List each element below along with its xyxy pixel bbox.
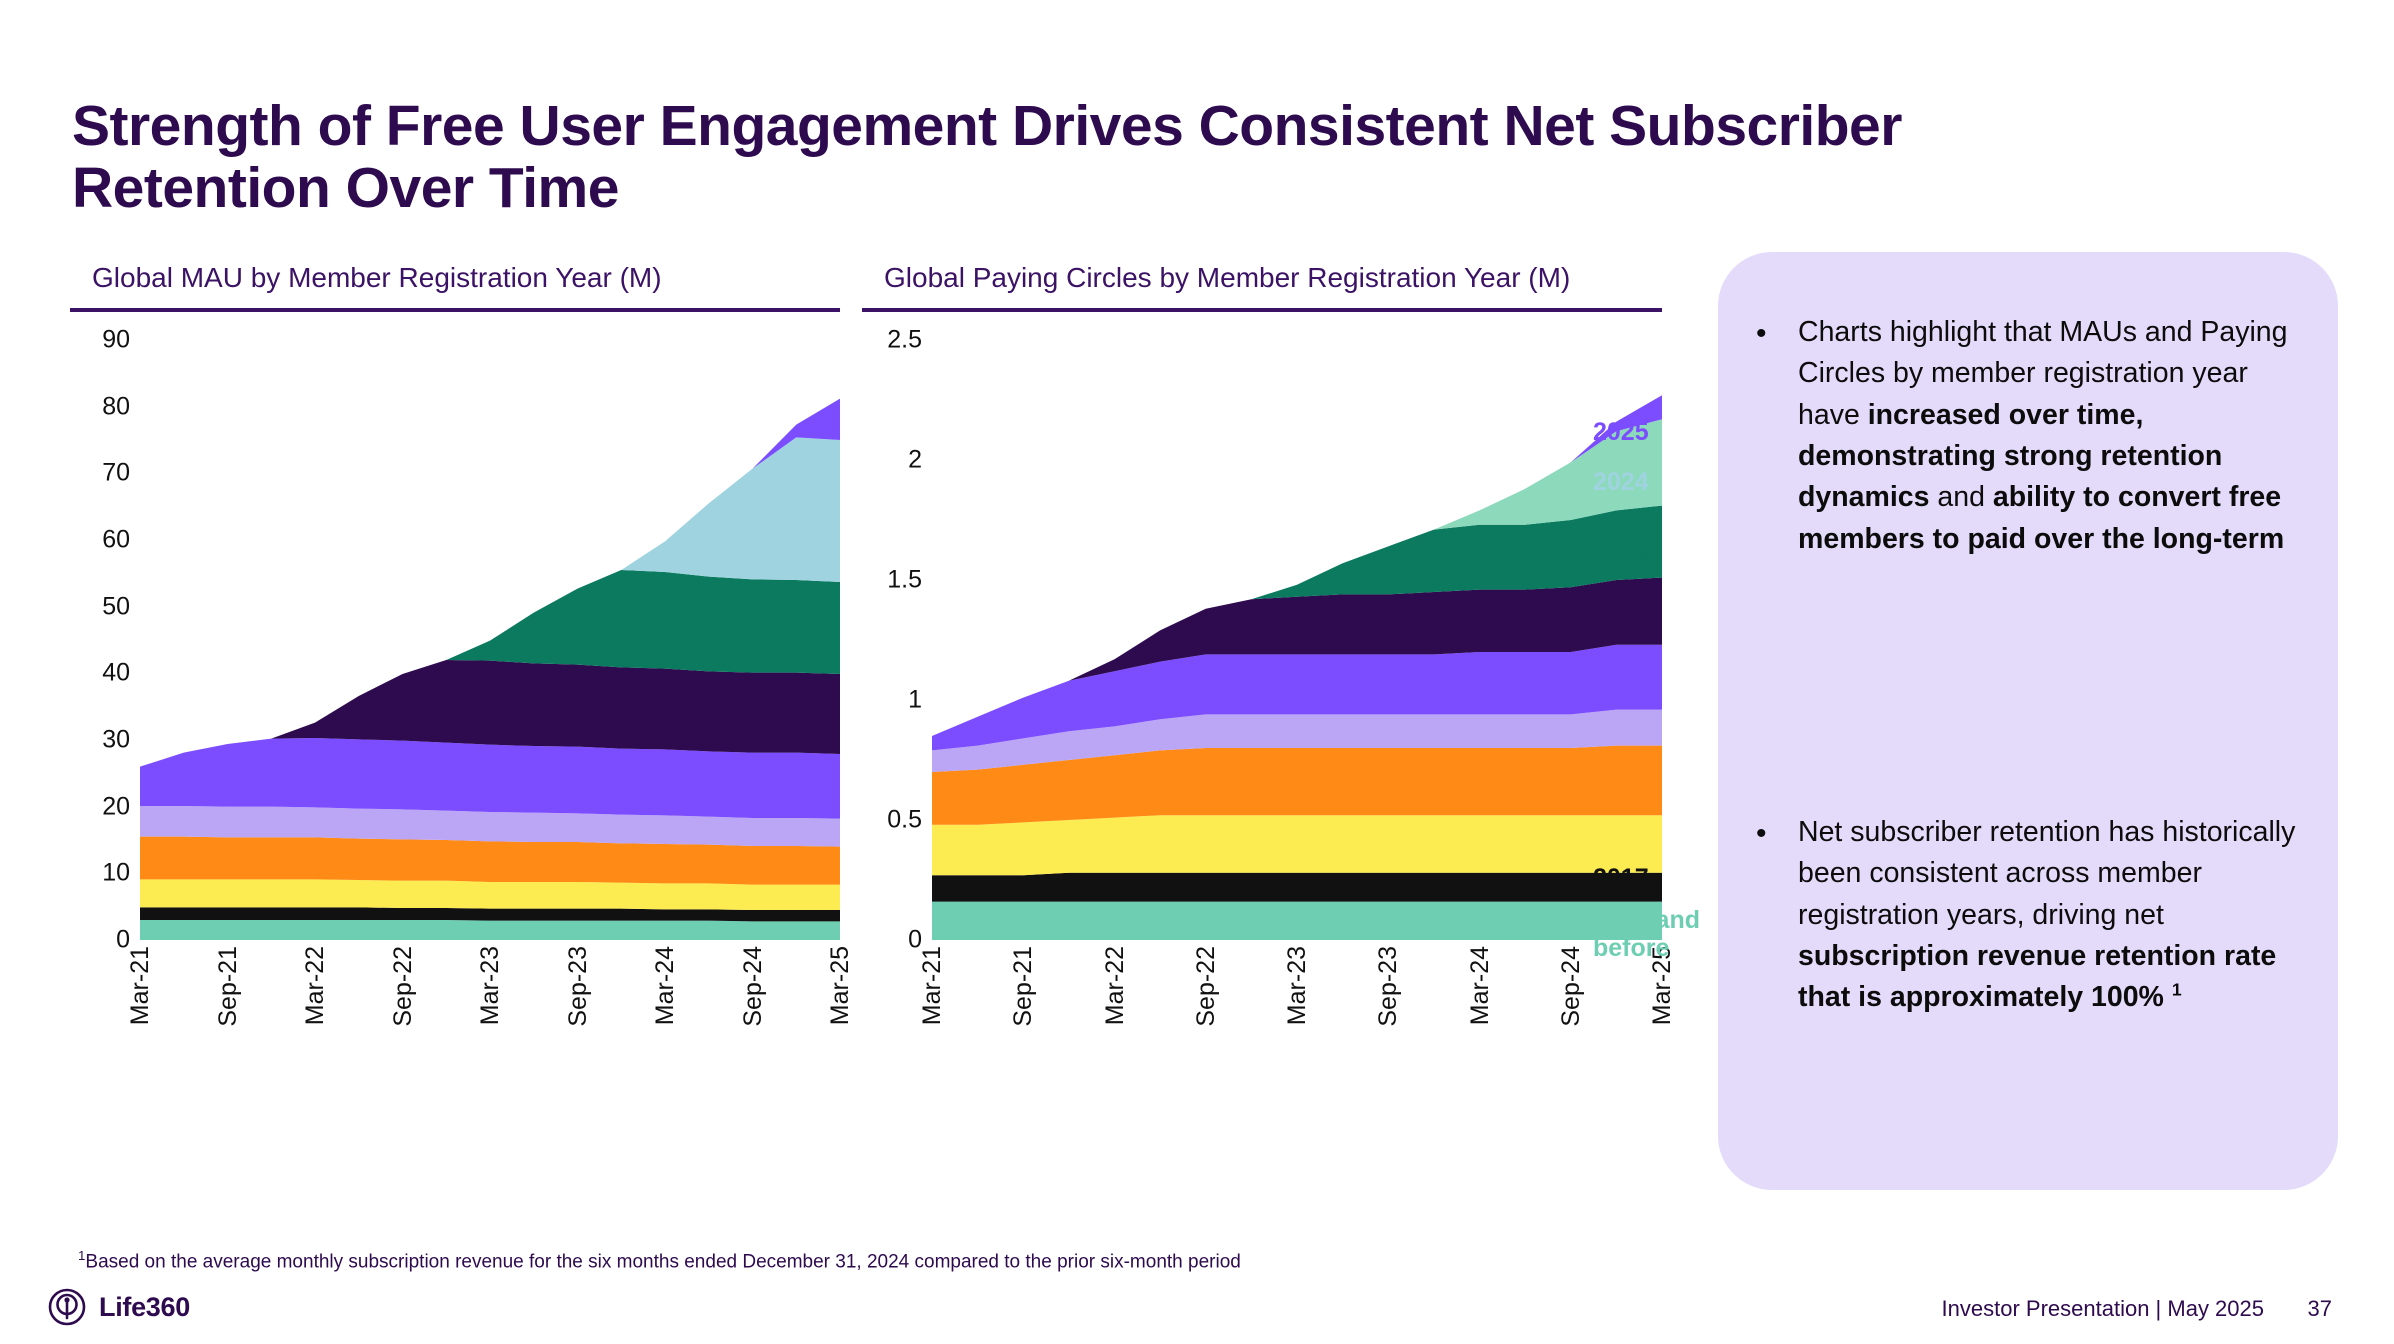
plot-wrapper-mau: 0102030405060708090 Mar-21Sep-21Mar-22Se… <box>70 340 840 1000</box>
brand-wordmark: Life360 <box>99 1292 190 1323</box>
x-axis-paying-circles-tick: Sep-21 <box>1009 946 1038 1027</box>
chart-title-rule-paying-circles <box>862 308 1662 312</box>
chart-title-paying-circles: Global Paying Circles by Member Registra… <box>862 262 1662 294</box>
area-series-2016-and-before <box>140 920 840 940</box>
x-axis-paying-circles: Mar-21Sep-21Mar-22Sep-22Mar-23Sep-23Mar-… <box>932 946 1662 1066</box>
callout-emphasis: 1 <box>2172 980 2182 1000</box>
y-axis-mau-tick: 30 <box>102 726 130 755</box>
legend-item-2018[interactable]: 2018 <box>1593 818 1649 846</box>
footnote-text: Based on the average monthly subscriptio… <box>85 1251 1240 1272</box>
x-axis-mau-tick: Sep-24 <box>739 946 768 1027</box>
legend-item-2024[interactable]: 2024 <box>1593 468 1649 496</box>
x-axis-paying-circles-tick: Sep-24 <box>1557 946 1586 1027</box>
plot-area-paying-circles <box>932 340 1662 940</box>
bullet-dot-icon: • <box>1756 312 1767 356</box>
x-axis-paying-circles-tick: Mar-23 <box>1283 946 1312 1025</box>
chart-title-mau: Global MAU by Member Registration Year (… <box>70 262 840 294</box>
stacked-area-chart-paying-circles <box>932 340 1662 940</box>
y-axis-mau-tick: 80 <box>102 392 130 421</box>
area-series-2017 <box>932 873 1662 902</box>
area-series-2016-and-before <box>932 902 1662 940</box>
bullet-dot-icon: • <box>1756 812 1767 856</box>
callout-bullet-text: Net subscriber retention has historicall… <box>1798 812 2304 1019</box>
y-axis-paying-circles: 00.511.522.5 <box>862 340 922 940</box>
callout-bullet: •Net subscriber retention has historical… <box>1756 812 2304 1019</box>
x-axis-paying-circles-tick: Mar-22 <box>1101 946 1130 1025</box>
y-axis-paying-circles-tick: 2.5 <box>887 326 922 355</box>
x-axis-paying-circles-tick: Mar-24 <box>1466 946 1495 1025</box>
legend-item-2023[interactable]: 2023 <box>1593 538 1649 566</box>
legend-item-2025[interactable]: 2025 <box>1593 418 1649 446</box>
callout-run: Net subscriber retention has historicall… <box>1798 816 2295 931</box>
legend-item-2020[interactable]: 2020 <box>1593 708 1649 736</box>
x-axis-mau-tick: Mar-23 <box>476 946 505 1025</box>
y-axis-mau-tick: 50 <box>102 592 130 621</box>
x-axis-mau-tick: Mar-24 <box>651 946 680 1025</box>
x-axis-paying-circles-tick: Sep-23 <box>1374 946 1403 1027</box>
y-axis-paying-circles-tick: 1.5 <box>887 566 922 595</box>
callout-bullet-text: Charts highlight that MAUs and Paying Ci… <box>1798 312 2304 560</box>
legend-item-2021[interactable]: 2021 <box>1593 656 1649 684</box>
y-axis-mau-tick: 10 <box>102 859 130 888</box>
y-axis-mau-tick: 20 <box>102 792 130 821</box>
x-axis-mau-tick: Mar-21 <box>126 946 155 1025</box>
y-axis-mau: 0102030405060708090 <box>70 340 130 940</box>
x-axis-paying-circles-tick: Mar-21 <box>918 946 947 1025</box>
x-axis-mau-tick: Sep-21 <box>214 946 243 1027</box>
life360-logo-icon <box>48 1288 86 1326</box>
y-axis-mau-tick: 40 <box>102 659 130 688</box>
x-axis-mau-tick: Sep-22 <box>389 946 418 1027</box>
legend-item-2019[interactable]: 2019 <box>1593 758 1649 786</box>
x-axis-mau-tick: Mar-22 <box>301 946 330 1025</box>
brand-logo: Life360 <box>48 1288 190 1326</box>
plot-area-mau <box>140 340 840 940</box>
y-axis-paying-circles-tick: 1 <box>908 686 922 715</box>
legend-item-2022[interactable]: 2022 <box>1593 602 1649 630</box>
callout-run: and <box>1929 481 1992 513</box>
page-number: 37 <box>2308 1296 2332 1322</box>
slide: Strength of Free User Engagement Drives … <box>0 0 2394 1344</box>
plot-wrapper-paying-circles: 00.511.522.5 Mar-21Sep-21Mar-22Sep-22Mar… <box>862 340 1662 1000</box>
callout-emphasis: subscription revenue retention rate that… <box>1798 940 2276 1013</box>
area-series-2018 <box>932 815 1662 875</box>
y-axis-mau-tick: 60 <box>102 526 130 555</box>
x-axis-mau: Mar-21Sep-21Mar-22Sep-22Mar-23Sep-23Mar-… <box>140 946 840 1066</box>
x-axis-mau-tick: Mar-25 <box>826 946 855 1025</box>
insights-callout: •Charts highlight that MAUs and Paying C… <box>1718 252 2338 1190</box>
footer-meta: Investor Presentation | May 2025 <box>1942 1296 2264 1322</box>
x-axis-paying-circles-tick: Sep-22 <box>1192 946 1221 1027</box>
legend-item-2017[interactable]: 2017 <box>1593 864 1649 892</box>
callout-bullet: •Charts highlight that MAUs and Paying C… <box>1756 312 2304 560</box>
page-title: Strength of Free User Engagement Drives … <box>72 96 2142 219</box>
y-axis-mau-tick: 70 <box>102 459 130 488</box>
y-axis-mau-tick: 90 <box>102 326 130 355</box>
chart-panel-mau: Global MAU by Member Registration Year (… <box>70 262 840 1000</box>
y-axis-paying-circles-tick: 0.5 <box>887 806 922 835</box>
footnote: 1Based on the average monthly subscripti… <box>78 1248 1241 1273</box>
callout-run <box>2164 981 2172 1013</box>
y-axis-paying-circles-tick: 2 <box>908 446 922 475</box>
stacked-area-chart-mau <box>140 340 840 940</box>
chart-panel-paying-circles: Global Paying Circles by Member Registra… <box>862 262 1662 1000</box>
x-axis-mau-tick: Sep-23 <box>564 946 593 1027</box>
chart-title-rule-mau <box>70 308 840 312</box>
legend-item-2016-and[interactable]: 2016 and before <box>1593 906 1700 962</box>
